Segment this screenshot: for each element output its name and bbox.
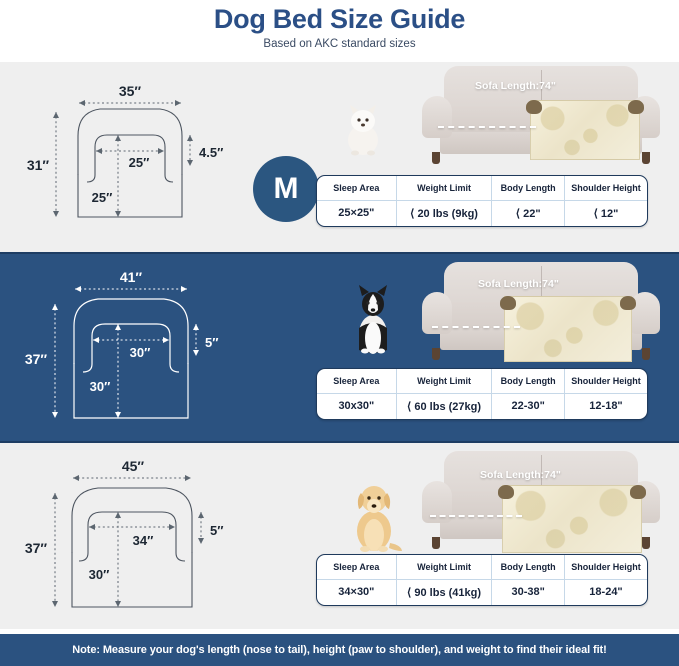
sofa-leg-right <box>642 152 650 164</box>
td-shoulder-height-m: ⟨ 12" <box>564 200 647 226</box>
dim-bolster-height-xl: 5″ <box>210 523 223 538</box>
table-row: 34×30" ⟨ 90 lbs (41kg) 30-38" 18-24" <box>317 579 647 605</box>
th-body-length: Body Length <box>492 176 565 200</box>
dog-photo-small-white-dog <box>340 94 386 156</box>
dim-sleep-width-l: 30″ <box>130 345 151 360</box>
spec-table-xl: Sleep Area Weight Limit Body Length Shou… <box>316 554 648 606</box>
th-sleep-area: Sleep Area <box>317 176 396 200</box>
dim-sleep-height-l: 30″ <box>90 379 111 394</box>
td-weight-limit-xl: ⟨ 90 lbs (41kg) <box>396 579 492 605</box>
sofa-illustration-l <box>422 262 660 362</box>
td-body-length-l: 22-30" <box>492 393 565 419</box>
th-body-length: Body Length <box>492 555 565 579</box>
table-header-row: Sleep Area Weight Limit Body Length Shou… <box>317 176 647 200</box>
th-body-length: Body Length <box>492 369 565 393</box>
th-shoulder-height: Shoulder Height <box>564 369 647 393</box>
td-sleep-area-m: 25×25" <box>317 200 396 226</box>
sofa-arm-left <box>422 96 452 138</box>
spec-table-l: Sleep Area Weight Limit Body Length Shou… <box>316 368 648 420</box>
bed-cover-on-sofa <box>530 100 640 160</box>
th-sleep-area: Sleep Area <box>317 369 396 393</box>
td-shoulder-height-l: 12-18" <box>564 393 647 419</box>
footer-note-bar: Note: Measure your dog's length (nose to… <box>0 634 679 666</box>
dim-overall-height-xl: 37″ <box>25 540 48 556</box>
table-row: 30x30" ⟨ 60 lbs (27kg) 22-30" 12-18" <box>317 393 647 419</box>
dim-sleep-height-xl: 30″ <box>89 567 110 582</box>
bed-diagram-l: 41″ 37″ 30″ 30″ 5″ <box>0 254 250 441</box>
dim-overall-height-m: 31″ <box>27 157 50 173</box>
cover-tab-left <box>498 485 514 499</box>
photo-scene-l: Sofa Length:74" <box>330 256 679 371</box>
dog-photo-golden-retriever <box>344 473 406 553</box>
photo-scene-xl: Sofa Length:74" <box>330 445 679 560</box>
sofa-length-measure-m <box>438 126 536 128</box>
dim-bolster-height-m: 4.5″ <box>199 145 223 160</box>
cover-tab-left <box>500 296 516 310</box>
dim-overall-width-l: 41″ <box>120 269 143 285</box>
td-weight-limit-m: ⟨ 20 lbs (9kg) <box>396 200 492 226</box>
sofa-length-measure-l <box>432 326 520 328</box>
td-body-length-xl: 30-38" <box>492 579 565 605</box>
dog-photo-border-collie <box>346 280 400 354</box>
cover-tab-right <box>620 296 636 310</box>
size-badge-m: M <box>253 156 319 222</box>
dim-sleep-width-xl: 34″ <box>133 533 154 548</box>
bed-diagram-m: 35″ 31″ 25″ 25″ 4.5″ <box>0 62 250 252</box>
sofa-leg-left <box>432 537 440 549</box>
table-row: 25×25" ⟨ 20 lbs (9kg) ⟨ 22" ⟨ 12" <box>317 200 647 226</box>
table-header-row: Sleep Area Weight Limit Body Length Shou… <box>317 555 647 579</box>
sofa-length-label-xl: Sofa Length:74" <box>480 469 561 481</box>
sofa-leg-right <box>642 537 650 549</box>
dim-sleep-width-m: 25″ <box>129 155 150 170</box>
bed-cover-on-sofa <box>502 485 642 553</box>
bed-diagram-xl: 45″ 37″ 34″ 30″ 5″ <box>0 443 250 629</box>
td-body-length-m: ⟨ 22" <box>492 200 565 226</box>
footer-note-text: Note: Measure your dog's length (nose to… <box>72 644 606 656</box>
td-sleep-area-l: 30x30" <box>317 393 396 419</box>
sofa-leg-right <box>642 348 650 360</box>
sofa-leg-left <box>432 348 440 360</box>
dog-bed-size-guide-infographic: Dog Bed Size Guide Based on AKC standard… <box>0 0 679 666</box>
cover-tab-left <box>526 100 542 114</box>
th-shoulder-height: Shoulder Height <box>564 176 647 200</box>
dim-overall-height-l: 37″ <box>25 351 48 367</box>
bed-cover-on-sofa <box>504 296 632 362</box>
sofa-length-measure-xl <box>430 515 522 517</box>
dim-sleep-height-m: 25″ <box>92 190 113 205</box>
dim-overall-width-m: 35″ <box>119 83 142 99</box>
dim-overall-width-xl: 45″ <box>122 458 145 474</box>
td-sleep-area-xl: 34×30" <box>317 579 396 605</box>
th-weight-limit: Weight Limit <box>396 176 492 200</box>
table-header-row: Sleep Area Weight Limit Body Length Shou… <box>317 369 647 393</box>
page-subtitle: Based on AKC standard sizes <box>0 38 679 50</box>
page-title: Dog Bed Size Guide <box>0 4 679 35</box>
spec-table-m: Sleep Area Weight Limit Body Length Shou… <box>316 175 648 227</box>
sofa-length-label-l: Sofa Length:74" <box>478 278 559 290</box>
th-weight-limit: Weight Limit <box>396 555 492 579</box>
td-shoulder-height-xl: 18-24" <box>564 579 647 605</box>
sofa-length-label-m: Sofa Length:74" <box>475 80 556 92</box>
sofa-leg-left <box>432 152 440 164</box>
cover-tab-right <box>628 100 644 114</box>
sofa-illustration-xl <box>422 451 660 551</box>
header: Dog Bed Size Guide Based on AKC standard… <box>0 0 679 62</box>
cover-tab-right <box>630 485 646 499</box>
th-sleep-area: Sleep Area <box>317 555 396 579</box>
th-shoulder-height: Shoulder Height <box>564 555 647 579</box>
td-weight-limit-l: ⟨ 60 lbs (27kg) <box>396 393 492 419</box>
photo-scene-m: Sofa Length:74" <box>330 62 679 177</box>
dim-bolster-height-l: 5″ <box>205 335 218 350</box>
th-weight-limit: Weight Limit <box>396 369 492 393</box>
